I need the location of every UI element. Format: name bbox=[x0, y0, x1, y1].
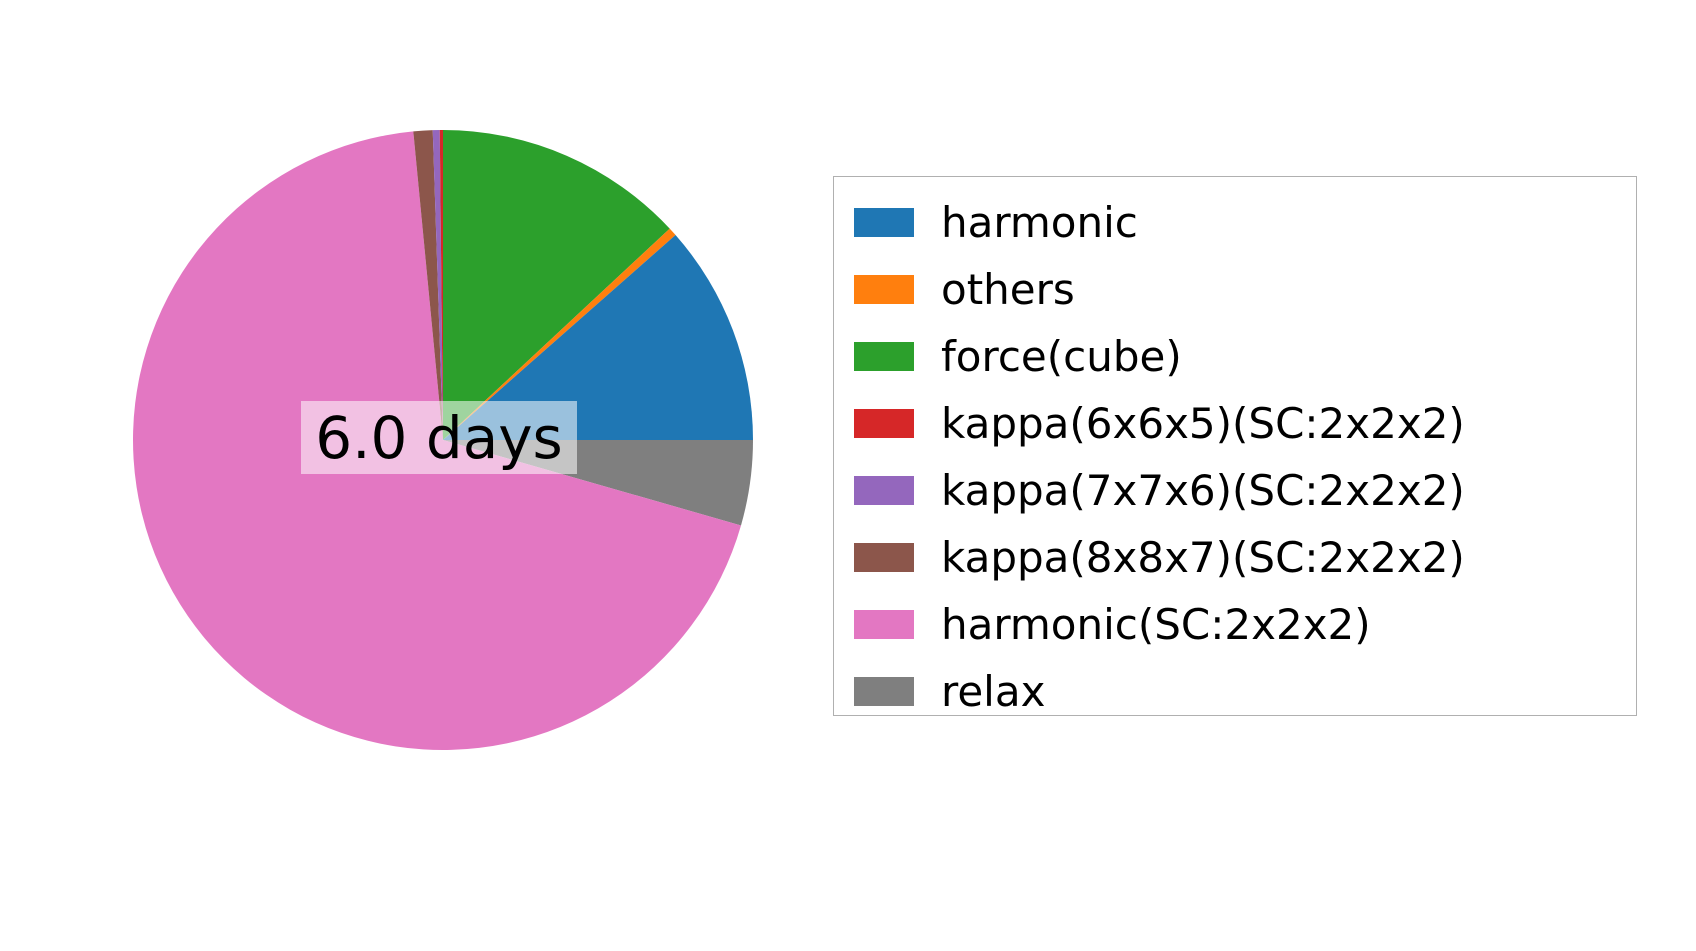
legend-item[interactable]: relax bbox=[834, 658, 1636, 725]
legend-label: kappa(6x6x5)(SC:2x2x2) bbox=[941, 403, 1465, 445]
legend-swatch-4 bbox=[854, 476, 914, 505]
legend-item[interactable]: kappa(7x7x6)(SC:2x2x2) bbox=[834, 457, 1636, 524]
legend-swatch-6 bbox=[854, 610, 914, 639]
legend-item-list: harmonicothersforce(cube)kappa(6x6x5)(SC… bbox=[834, 177, 1636, 725]
legend-item[interactable]: force(cube) bbox=[834, 323, 1636, 390]
legend-label: relax bbox=[941, 671, 1045, 713]
legend-swatch-2 bbox=[854, 342, 914, 371]
legend-swatch-3 bbox=[854, 409, 914, 438]
legend-item[interactable]: others bbox=[834, 256, 1636, 323]
legend-swatch-0 bbox=[854, 208, 914, 237]
legend-swatch-7 bbox=[854, 677, 914, 706]
pie-chart-svg bbox=[133, 130, 753, 750]
pie-chart-axes bbox=[133, 130, 753, 750]
legend-label: others bbox=[941, 269, 1075, 311]
legend-label: kappa(7x7x6)(SC:2x2x2) bbox=[941, 470, 1465, 512]
figure-canvas: 6.0 days harmonicothersforce(cube)kappa(… bbox=[0, 0, 1696, 951]
legend: harmonicothersforce(cube)kappa(6x6x5)(SC… bbox=[833, 176, 1637, 716]
legend-item[interactable]: harmonic bbox=[834, 189, 1636, 256]
legend-swatch-5 bbox=[854, 543, 914, 572]
legend-item[interactable]: kappa(6x6x5)(SC:2x2x2) bbox=[834, 390, 1636, 457]
legend-label: harmonic(SC:2x2x2) bbox=[941, 604, 1371, 646]
legend-item[interactable]: kappa(8x8x7)(SC:2x2x2) bbox=[834, 524, 1636, 591]
legend-label: kappa(8x8x7)(SC:2x2x2) bbox=[941, 537, 1465, 579]
legend-label: harmonic bbox=[941, 202, 1138, 244]
pie-wedges-group bbox=[133, 130, 753, 750]
legend-label: force(cube) bbox=[941, 336, 1182, 378]
legend-item[interactable]: harmonic(SC:2x2x2) bbox=[834, 591, 1636, 658]
legend-swatch-1 bbox=[854, 275, 914, 304]
